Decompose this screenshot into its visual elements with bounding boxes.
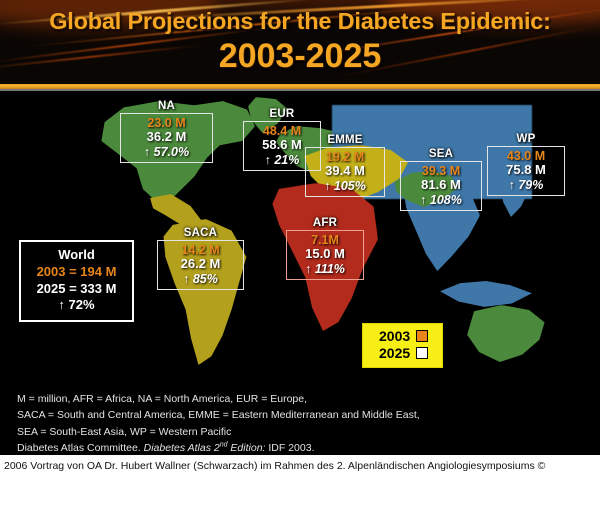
region-label-eur: EUR (243, 108, 321, 120)
footnote-source-prefix: Diabetes Atlas Committee. (17, 442, 144, 454)
region-sea-value-2003: 39.3 M (407, 164, 475, 178)
footnote-source-title-a: Diabetes Atlas 2 (144, 442, 220, 454)
region-box-saca[interactable]: 14.2 M 26.2 M ↑ 85% (157, 240, 244, 290)
region-label-sea: SEA (400, 148, 482, 160)
caption-bar: 2006 Vortrag von OA Dr. Hubert Wallner (… (0, 455, 600, 511)
region-afr-value-2025: 15.0 M (293, 247, 357, 262)
region-sea-value-2025: 81.6 M (407, 178, 475, 193)
slide-header: Global Projections for the Diabetes Epid… (0, 0, 600, 84)
region-label-na: NA (120, 100, 213, 112)
region-na-value-2003: 23.0 M (127, 116, 206, 130)
landmass-indonesia (440, 279, 532, 313)
region-wp[interactable]: WP 43.0 M 75.8 M ↑ 79% (487, 133, 565, 196)
landmass-australia (462, 305, 548, 367)
world-summary-title: World (30, 247, 123, 263)
footnote-source-ordinal: nd (220, 441, 228, 448)
region-wp-change: ↑ 79% (494, 178, 558, 192)
legend-label-2003: 2003 (379, 328, 410, 345)
region-afr-value-2003: 7.1M (293, 233, 357, 247)
region-na-value-2025: 36.2 M (127, 130, 206, 145)
footnote-source-suffix: IDF 2003. (265, 442, 314, 454)
region-wp-value-2003: 43.0 M (494, 149, 558, 163)
region-saca-change: ↑ 85% (164, 272, 237, 286)
header-title-group: Global Projections for the Diabetes Epid… (0, 0, 600, 76)
world-summary-2025: 2025 = 333 M (30, 281, 123, 297)
region-wp-value-2025: 75.8 M (494, 163, 558, 178)
world-summary-change: ↑ 72% (30, 297, 123, 313)
caption-text: 2006 Vortrag von OA Dr. Hubert Wallner (… (4, 459, 594, 474)
slide-title-line-1: Global Projections for the Diabetes Epid… (0, 8, 600, 35)
region-label-emme: EMME (305, 134, 385, 146)
legend-label-2025: 2025 (379, 345, 410, 362)
region-label-afr: AFR (286, 217, 364, 229)
footnote-line-3: SEA = South-East Asia, WP = Western Paci… (17, 424, 592, 440)
legend-row-2003[interactable]: 2003 (379, 328, 428, 345)
slide-title-line-2: 2003-2025 (0, 37, 600, 76)
world-map: NA 23.0 M 36.2 M ↑ 57.0% EUR 48.4 M 58.6… (0, 91, 600, 385)
region-saca-value-2025: 26.2 M (164, 257, 237, 272)
region-emme-change: ↑ 105% (312, 179, 378, 193)
region-label-saca: SACA (157, 227, 244, 239)
world-summary-2003: 2003 = 194 M (30, 264, 123, 280)
legend-swatch-2025-icon (416, 347, 428, 359)
region-na-change: ↑ 57.0% (127, 145, 206, 159)
footnote-line-1: M = million, AFR = Africa, NA = North Am… (17, 391, 592, 407)
world-summary-box[interactable]: World 2003 = 194 M 2025 = 333 M ↑ 72% (19, 240, 134, 322)
region-afr[interactable]: AFR 7.1M 15.0 M ↑ 111% (286, 217, 364, 280)
region-sea[interactable]: SEA 39.3 M 81.6 M ↑ 108% (400, 148, 482, 211)
region-emme-value-2025: 39.4 M (312, 164, 378, 179)
slide-root: Global Projections for the Diabetes Epid… (0, 0, 600, 511)
region-box-wp[interactable]: 43.0 M 75.8 M ↑ 79% (487, 146, 565, 196)
region-afr-change: ↑ 111% (293, 262, 357, 276)
region-saca[interactable]: SACA 14.2 M 26.2 M ↑ 85% (157, 227, 244, 290)
region-saca-value-2003: 14.2 M (164, 243, 237, 257)
region-box-afr[interactable]: 7.1M 15.0 M ↑ 111% (286, 230, 364, 280)
region-box-sea[interactable]: 39.3 M 81.6 M ↑ 108% (400, 161, 482, 211)
footnote-line-4: Diabetes Atlas Committee. Diabetes Atlas… (17, 440, 592, 456)
region-box-na[interactable]: 23.0 M 36.2 M ↑ 57.0% (120, 113, 213, 163)
map-legend[interactable]: 2003 2025 (362, 323, 443, 368)
region-emme[interactable]: EMME 19.2 M 39.4 M ↑ 105% (305, 134, 385, 197)
footnote-line-2: SACA = South and Central America, EMME =… (17, 407, 592, 423)
region-box-emme[interactable]: 19.2 M 39.4 M ↑ 105% (305, 147, 385, 197)
region-sea-change: ↑ 108% (407, 193, 475, 207)
region-na[interactable]: NA 23.0 M 36.2 M ↑ 57.0% (120, 100, 213, 163)
header-divider-highlight (0, 89, 600, 91)
region-label-wp: WP (487, 133, 565, 145)
footnote-source-title-b: Edition: (228, 442, 266, 454)
footnotes: M = million, AFR = Africa, NA = North Am… (17, 391, 592, 456)
legend-swatch-2003-icon (416, 330, 428, 342)
region-emme-value-2003: 19.2 M (312, 150, 378, 164)
legend-row-2025[interactable]: 2025 (379, 345, 428, 362)
